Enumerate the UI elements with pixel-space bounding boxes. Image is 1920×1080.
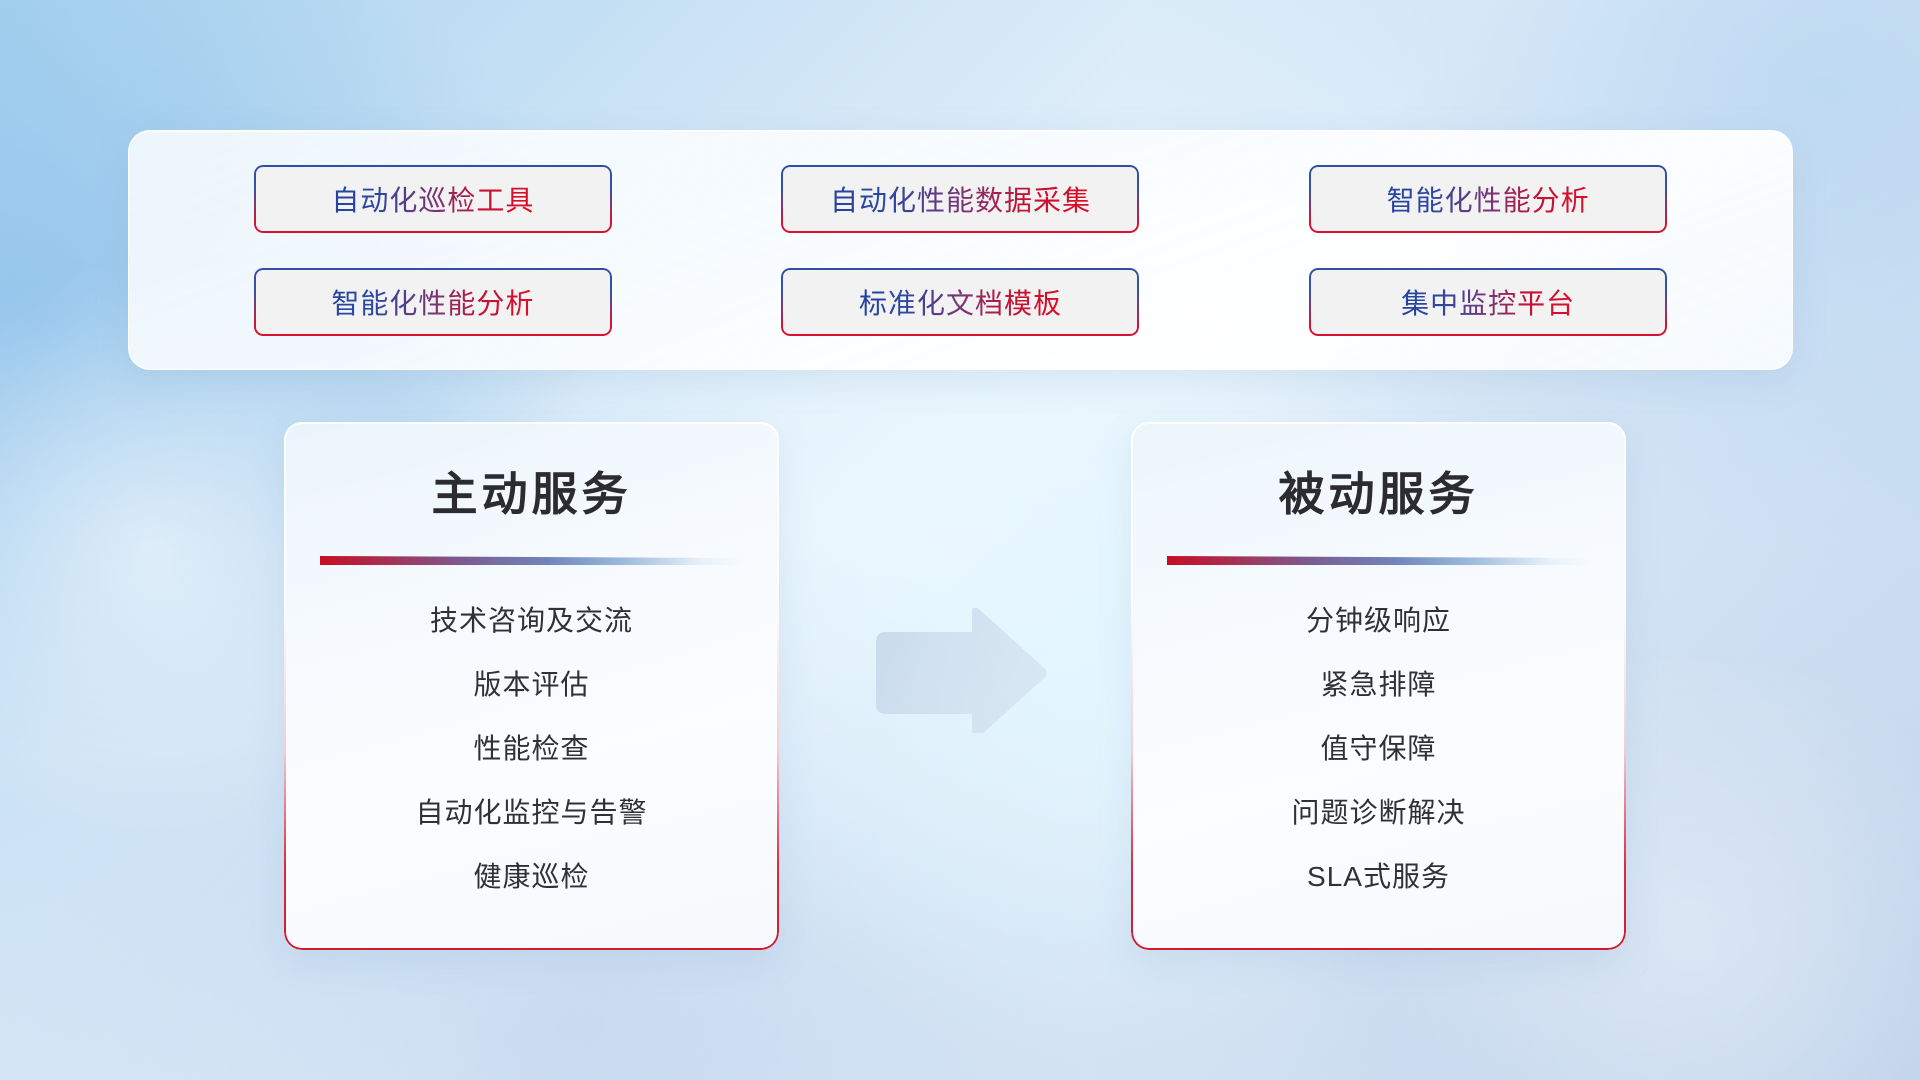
list-item: 值守保障 — [1155, 727, 1602, 767]
card-item-list: 分钟级响应 紧急排障 值守保障 问题诊断解决 SLA式服务 — [1131, 599, 1626, 895]
capability-tag-label: 自动化巡检工具 — [331, 179, 534, 219]
service-card-passive: 被动服务 分钟级响应 紧急排障 值守保障 问题诊断解决 SLA式服务 — [1131, 422, 1626, 950]
list-item: 健康巡检 — [308, 855, 755, 895]
capability-tag-label: 自动化性能数据采集 — [830, 179, 1091, 219]
capability-tag[interactable]: 智能化性能分析 — [254, 268, 612, 336]
card-title: 被动服务 — [1131, 458, 1626, 524]
list-item: 技术咨询及交流 — [308, 599, 755, 639]
capability-tag-label: 标准化文档模板 — [859, 282, 1062, 322]
capability-panel: 自动化巡检工具 自动化性能数据采集 智能化性能分析 智能化性能分析 标准化文档模… — [128, 130, 1793, 370]
service-card-active: 主动服务 技术咨询及交流 版本评估 性能检查 自动化监控与告警 健康巡检 — [284, 422, 779, 950]
list-item: 分钟级响应 — [1155, 599, 1602, 639]
capability-tag[interactable]: 集中监控平台 — [1309, 268, 1667, 336]
card-title: 主动服务 — [284, 458, 779, 524]
capability-tag-label: 智能化性能分析 — [1387, 179, 1590, 219]
card-divider — [320, 556, 744, 565]
capability-tag[interactable]: 标准化文档模板 — [781, 268, 1139, 336]
right-arrow-icon — [870, 608, 1050, 733]
list-item: 性能检查 — [308, 727, 755, 767]
capability-tag[interactable]: 智能化性能分析 — [1309, 165, 1667, 233]
capability-tag[interactable]: 自动化性能数据采集 — [781, 165, 1139, 233]
capability-tag-label: 集中监控平台 — [1401, 282, 1575, 322]
diagram-canvas: 自动化巡检工具 自动化性能数据采集 智能化性能分析 智能化性能分析 标准化文档模… — [0, 0, 1920, 1080]
capability-tag-label: 智能化性能分析 — [331, 282, 534, 322]
list-item: 问题诊断解决 — [1155, 791, 1602, 831]
card-item-list: 技术咨询及交流 版本评估 性能检查 自动化监控与告警 健康巡检 — [284, 599, 779, 895]
capability-tag[interactable]: 自动化巡检工具 — [254, 165, 612, 233]
list-item: 版本评估 — [308, 663, 755, 703]
list-item: SLA式服务 — [1155, 855, 1602, 895]
capability-tag-grid: 自动化巡检工具 自动化性能数据采集 智能化性能分析 智能化性能分析 标准化文档模… — [129, 131, 1792, 369]
list-item: 自动化监控与告警 — [308, 791, 755, 831]
card-divider — [1167, 556, 1591, 565]
list-item: 紧急排障 — [1155, 663, 1602, 703]
